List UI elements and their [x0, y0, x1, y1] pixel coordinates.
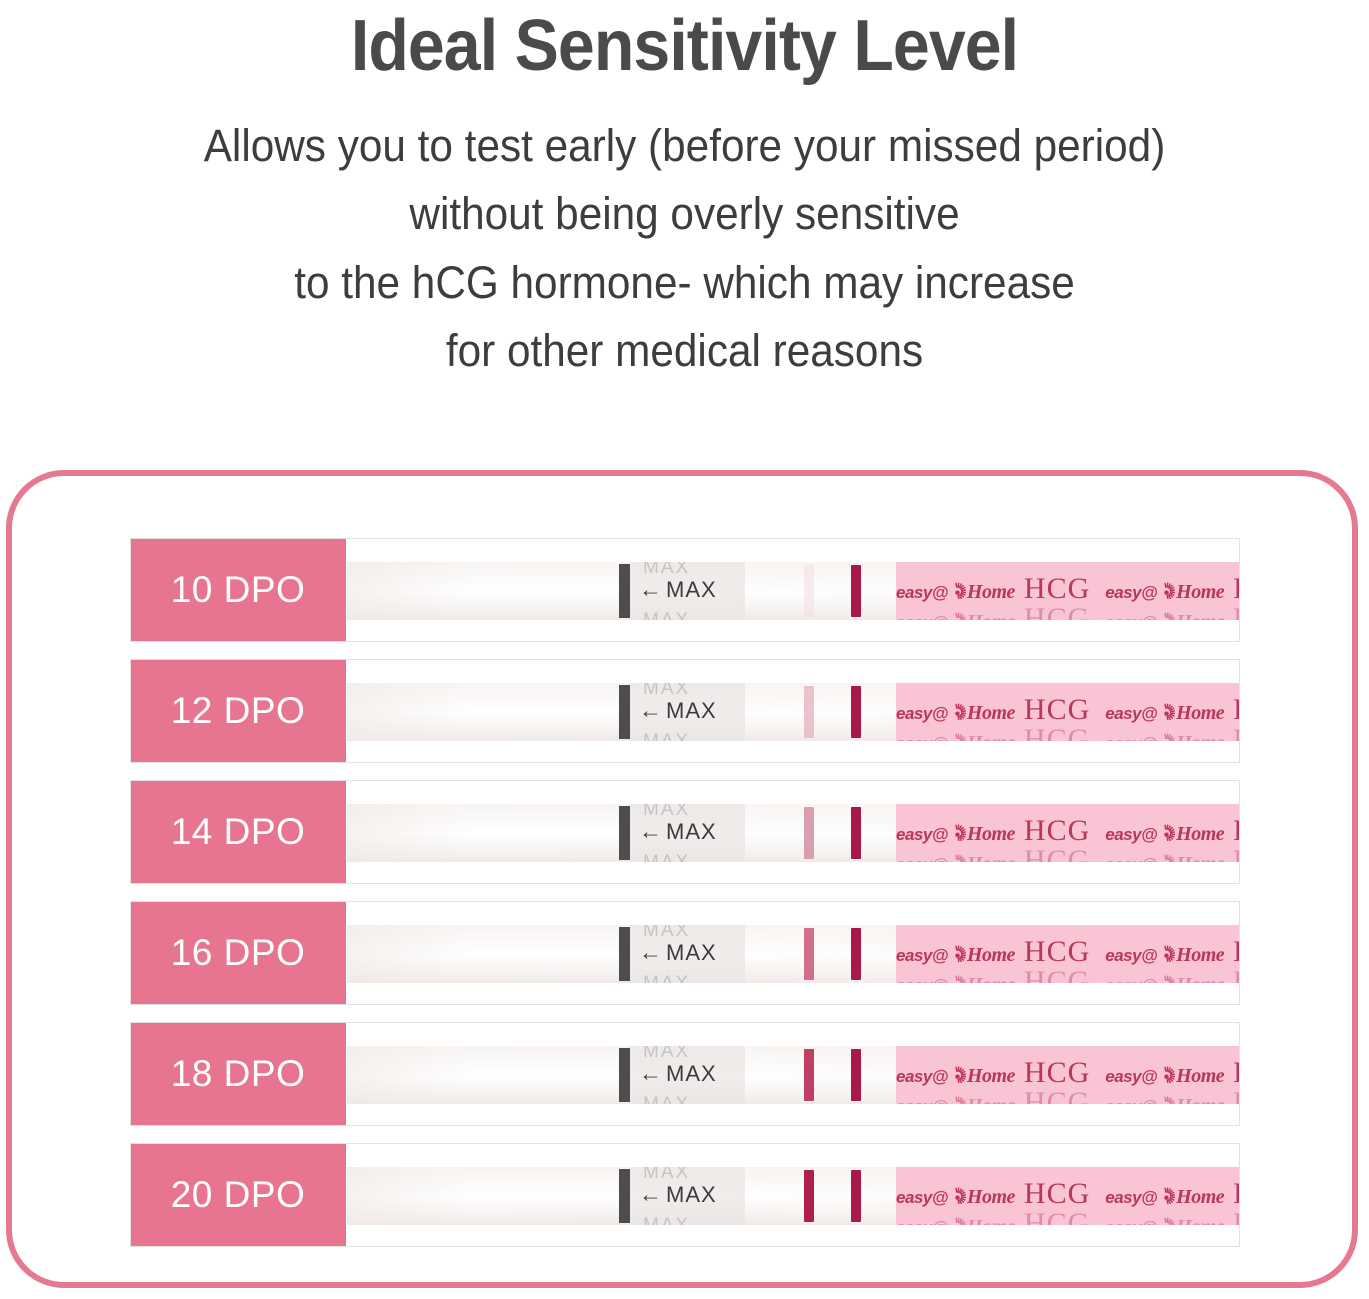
- sunburst-logo-icon: [1158, 703, 1175, 720]
- control-line: [851, 565, 861, 617]
- brand-home-text: Home: [1176, 611, 1224, 620]
- brand-hcg-text: HCG: [1233, 935, 1239, 968]
- brand-easy-text: easy@: [896, 583, 948, 602]
- brand-text-row: easy@HomeHCGeasy@HomeHCGeasy@HomeHCGeasy…: [896, 602, 1239, 620]
- brand-text-row: easy@HomeHCGeasy@HomeHCGeasy@HomeHCGeasy…: [896, 1056, 1239, 1090]
- brand-unit: easy@HomeHCG: [896, 935, 1099, 969]
- test-line: [804, 1170, 814, 1222]
- subtitle: Allows you to test early (before your mi…: [41, 112, 1328, 386]
- brand-unit: easy@HomeHCG: [896, 1056, 1099, 1090]
- dpo-strip-chart: 10 DPOMAX←MAXMAXeasy@HomeHCGeasy@HomeHCG…: [130, 538, 1240, 1250]
- dpo-label-text: 16 DPO: [171, 932, 306, 974]
- dpo-label: 14 DPO: [130, 780, 346, 884]
- brand-easy-text: easy@: [1105, 1218, 1157, 1225]
- brand-easy-text: easy@: [896, 1067, 948, 1086]
- brand-unit: easy@HomeHCG: [1105, 1086, 1239, 1104]
- brand-home-text: Home: [967, 823, 1015, 845]
- sunburst-logo-icon: [949, 1096, 966, 1104]
- brand-easy-text: easy@: [896, 734, 948, 741]
- max-label-ghost-bottom: MAX: [643, 852, 690, 862]
- brand-home-text: Home: [967, 1065, 1015, 1087]
- brand-unit: easy@HomeHCG: [1105, 1207, 1239, 1225]
- sunburst-logo-icon: [1158, 975, 1175, 983]
- brand-hcg-text: HCG: [1024, 693, 1090, 726]
- sunburst-logo-icon: [949, 1066, 966, 1083]
- strip-row: 16 DPOMAX←MAXMAXeasy@HomeHCGeasy@HomeHCG…: [130, 901, 1240, 1005]
- control-line: [851, 1170, 861, 1222]
- sunburst-logo-icon: [949, 582, 966, 599]
- sunburst-logo-icon: [1158, 733, 1175, 741]
- brand-home-text: Home: [1176, 1186, 1224, 1208]
- strip-row: 18 DPOMAX←MAXMAXeasy@HomeHCGeasy@HomeHCG…: [130, 1022, 1240, 1126]
- brand-hcg-text: HCG: [1233, 1177, 1239, 1210]
- brand-easy-text: easy@: [1105, 1097, 1157, 1104]
- brand-home-text: Home: [967, 853, 1015, 862]
- sunburst-logo-icon: [949, 612, 966, 620]
- max-marker-block: [619, 564, 630, 618]
- brand-hcg-text: HCG: [1024, 1056, 1090, 1089]
- brand-easy-text: easy@: [896, 946, 948, 965]
- dpo-label: 18 DPO: [130, 1022, 346, 1126]
- brand-tail: easy@HomeHCGeasy@HomeHCGeasy@HomeHCGeasy…: [896, 804, 1239, 862]
- dpo-label-text: 10 DPO: [171, 569, 306, 611]
- sunburst-logo-icon: [949, 733, 966, 741]
- brand-easy-text: easy@: [1105, 855, 1157, 862]
- control-line: [851, 928, 861, 980]
- sunburst-logo-icon: [949, 1217, 966, 1225]
- brand-hcg-text: HCG: [1024, 1177, 1090, 1210]
- test-line: [804, 807, 814, 859]
- brand-text-row: easy@HomeHCGeasy@HomeHCGeasy@HomeHCGeasy…: [896, 572, 1239, 606]
- brand-easy-text: easy@: [1105, 946, 1157, 965]
- brand-unit: easy@HomeHCG: [1105, 602, 1239, 620]
- sunburst-logo-icon: [1158, 1096, 1175, 1104]
- brand-unit: easy@HomeHCG: [1105, 1177, 1239, 1211]
- brand-unit: easy@HomeHCG: [1105, 1056, 1239, 1090]
- brand-easy-text: easy@: [1105, 825, 1157, 844]
- left-arrow-icon: ←: [639, 697, 663, 723]
- brand-hcg-text: HCG: [1024, 844, 1090, 862]
- brand-easy-text: easy@: [1105, 613, 1157, 620]
- brand-unit: easy@HomeHCG: [896, 1086, 1099, 1104]
- max-marker-text: MAX: [666, 819, 717, 844]
- brand-unit: easy@HomeHCG: [896, 602, 1099, 620]
- brand-easy-text: easy@: [896, 613, 948, 620]
- brand-unit: easy@HomeHCG: [896, 844, 1099, 862]
- dpo-label: 16 DPO: [130, 901, 346, 1005]
- sunburst-logo-icon: [1158, 824, 1175, 841]
- brand-home-text: Home: [1176, 1065, 1224, 1087]
- brand-tail: easy@HomeHCGeasy@HomeHCGeasy@HomeHCGeasy…: [896, 562, 1239, 620]
- dpo-label-text: 20 DPO: [171, 1174, 306, 1216]
- brand-unit: easy@HomeHCG: [896, 723, 1099, 741]
- max-marker-label: ←MAX: [639, 1060, 717, 1087]
- max-marker-block: [619, 927, 630, 981]
- strip-row: 20 DPOMAX←MAXMAXeasy@HomeHCGeasy@HomeHCG…: [130, 1143, 1240, 1247]
- brand-home-text: Home: [967, 1095, 1015, 1104]
- brand-home-text: Home: [1176, 581, 1224, 603]
- brand-easy-text: easy@: [896, 1188, 948, 1207]
- max-marker-block: [619, 1169, 630, 1223]
- brand-unit: easy@HomeHCG: [896, 965, 1099, 983]
- brand-home-text: Home: [1176, 853, 1224, 862]
- brand-unit: easy@HomeHCG: [896, 814, 1099, 848]
- brand-home-text: Home: [967, 1186, 1015, 1208]
- brand-text-row: easy@HomeHCGeasy@HomeHCGeasy@HomeHCGeasy…: [896, 1086, 1239, 1104]
- test-line: [804, 686, 814, 738]
- brand-home-text: Home: [1176, 702, 1224, 724]
- sunburst-logo-icon: [1158, 1187, 1175, 1204]
- max-marker-label: ←MAX: [639, 576, 717, 603]
- dpo-label: 20 DPO: [130, 1143, 346, 1247]
- left-arrow-icon: ←: [639, 1181, 663, 1207]
- brand-unit: easy@HomeHCG: [1105, 965, 1239, 983]
- brand-home-text: Home: [1176, 1216, 1224, 1225]
- sunburst-logo-icon: [949, 945, 966, 962]
- subtitle-line-2: without being overly sensitive: [41, 180, 1328, 248]
- sunburst-logo-icon: [1158, 1066, 1175, 1083]
- max-marker-label: ←MAX: [639, 939, 717, 966]
- brand-unit: easy@HomeHCG: [1105, 693, 1239, 727]
- test-strip: MAX←MAXMAXeasy@HomeHCGeasy@HomeHCGeasy@H…: [347, 804, 1239, 862]
- left-arrow-icon: ←: [639, 1060, 663, 1086]
- brand-tail: easy@HomeHCGeasy@HomeHCGeasy@HomeHCGeasy…: [896, 1046, 1239, 1104]
- test-line: [804, 1049, 814, 1101]
- brand-text-row: easy@HomeHCGeasy@HomeHCGeasy@HomeHCGeasy…: [896, 693, 1239, 727]
- brand-unit: easy@HomeHCG: [896, 1177, 1099, 1211]
- brand-hcg-text: HCG: [1024, 572, 1090, 605]
- control-line: [851, 807, 861, 859]
- brand-easy-text: easy@: [1105, 976, 1157, 983]
- brand-hcg-text: HCG: [1233, 814, 1239, 847]
- max-label-ghost-bottom: MAX: [643, 610, 690, 620]
- brand-tail: easy@HomeHCGeasy@HomeHCGeasy@HomeHCGeasy…: [896, 925, 1239, 983]
- dpo-label: 10 DPO: [130, 538, 346, 642]
- sunburst-logo-icon: [1158, 854, 1175, 862]
- brand-hcg-text: HCG: [1233, 1056, 1239, 1089]
- brand-hcg-text: HCG: [1024, 935, 1090, 968]
- brand-text-row: easy@HomeHCGeasy@HomeHCGeasy@HomeHCGeasy…: [896, 844, 1239, 862]
- brand-hcg-text: HCG: [1233, 1207, 1239, 1225]
- brand-home-text: Home: [967, 1216, 1015, 1225]
- max-label-ghost-bottom: MAX: [643, 1215, 690, 1225]
- brand-easy-text: easy@: [1105, 1067, 1157, 1086]
- dpo-label: 12 DPO: [130, 659, 346, 763]
- brand-unit: easy@HomeHCG: [896, 1207, 1099, 1225]
- sunburst-logo-icon: [1158, 1217, 1175, 1225]
- brand-text-row: easy@HomeHCGeasy@HomeHCGeasy@HomeHCGeasy…: [896, 814, 1239, 848]
- brand-home-text: Home: [967, 974, 1015, 983]
- max-marker-text: MAX: [666, 698, 717, 723]
- control-line: [851, 686, 861, 738]
- brand-hcg-text: HCG: [1233, 844, 1239, 862]
- brand-hcg-text: HCG: [1233, 602, 1239, 620]
- brand-easy-text: easy@: [1105, 583, 1157, 602]
- brand-unit: easy@HomeHCG: [1105, 723, 1239, 741]
- sunburst-logo-icon: [1158, 582, 1175, 599]
- max-marker-block: [619, 1048, 630, 1102]
- strip-row: 14 DPOMAX←MAXMAXeasy@HomeHCGeasy@HomeHCG…: [130, 780, 1240, 884]
- brand-easy-text: easy@: [896, 1218, 948, 1225]
- left-arrow-icon: ←: [639, 939, 663, 965]
- max-label-ghost-bottom: MAX: [643, 1094, 690, 1104]
- strip-row: 10 DPOMAX←MAXMAXeasy@HomeHCGeasy@HomeHCG…: [130, 538, 1240, 642]
- brand-home-text: Home: [967, 944, 1015, 966]
- test-line: [804, 565, 814, 617]
- subtitle-line-4: for other medical reasons: [41, 317, 1328, 385]
- brand-unit: easy@HomeHCG: [896, 693, 1099, 727]
- max-label-ghost-bottom: MAX: [643, 731, 690, 741]
- max-marker-text: MAX: [666, 577, 717, 602]
- max-marker-label: ←MAX: [639, 1181, 717, 1208]
- brand-home-text: Home: [1176, 823, 1224, 845]
- brand-tail: easy@HomeHCGeasy@HomeHCGeasy@HomeHCGeasy…: [896, 1167, 1239, 1225]
- brand-home-text: Home: [1176, 974, 1224, 983]
- brand-hcg-text: HCG: [1233, 723, 1239, 741]
- sunburst-logo-icon: [1158, 945, 1175, 962]
- sunburst-logo-icon: [949, 1187, 966, 1204]
- header-section: Ideal Sensitivity Level Allows you to te…: [0, 0, 1369, 385]
- test-strip: MAX←MAXMAXeasy@HomeHCGeasy@HomeHCGeasy@H…: [347, 1167, 1239, 1225]
- brand-easy-text: easy@: [1105, 704, 1157, 723]
- brand-text-row: easy@HomeHCGeasy@HomeHCGeasy@HomeHCGeasy…: [896, 935, 1239, 969]
- brand-hcg-text: HCG: [1024, 602, 1090, 620]
- brand-unit: easy@HomeHCG: [1105, 935, 1239, 969]
- test-strip: MAX←MAXMAXeasy@HomeHCGeasy@HomeHCGeasy@H…: [347, 925, 1239, 983]
- brand-easy-text: easy@: [896, 976, 948, 983]
- control-line: [851, 1049, 861, 1101]
- test-line: [804, 928, 814, 980]
- max-marker-text: MAX: [666, 1061, 717, 1086]
- brand-hcg-text: HCG: [1024, 1207, 1090, 1225]
- brand-easy-text: easy@: [896, 704, 948, 723]
- brand-unit: easy@HomeHCG: [1105, 572, 1239, 606]
- brand-hcg-text: HCG: [1024, 965, 1090, 983]
- brand-home-text: Home: [1176, 944, 1224, 966]
- brand-easy-text: easy@: [896, 855, 948, 862]
- max-label-ghost-bottom: MAX: [643, 973, 690, 983]
- brand-unit: easy@HomeHCG: [1105, 844, 1239, 862]
- dpo-label-text: 14 DPO: [171, 811, 306, 853]
- brand-text-row: easy@HomeHCGeasy@HomeHCGeasy@HomeHCGeasy…: [896, 1177, 1239, 1211]
- test-strip: MAX←MAXMAXeasy@HomeHCGeasy@HomeHCGeasy@H…: [347, 1046, 1239, 1104]
- brand-hcg-text: HCG: [1024, 814, 1090, 847]
- sunburst-logo-icon: [1158, 612, 1175, 620]
- max-marker-block: [619, 806, 630, 860]
- left-arrow-icon: ←: [639, 576, 663, 602]
- brand-unit: easy@HomeHCG: [896, 572, 1099, 606]
- brand-hcg-text: HCG: [1233, 965, 1239, 983]
- page-title: Ideal Sensitivity Level: [55, 8, 1314, 86]
- max-marker-text: MAX: [666, 940, 717, 965]
- max-marker-label: ←MAX: [639, 697, 717, 724]
- brand-home-text: Home: [1176, 1095, 1224, 1104]
- brand-home-text: Home: [1176, 732, 1224, 741]
- max-marker-block: [619, 685, 630, 739]
- brand-easy-text: easy@: [1105, 1188, 1157, 1207]
- brand-unit: easy@HomeHCG: [1105, 814, 1239, 848]
- brand-hcg-text: HCG: [1024, 1086, 1090, 1104]
- max-marker-label: ←MAX: [639, 818, 717, 845]
- brand-hcg-text: HCG: [1024, 723, 1090, 741]
- sunburst-logo-icon: [949, 824, 966, 841]
- dpo-label-text: 12 DPO: [171, 690, 306, 732]
- brand-easy-text: easy@: [896, 1097, 948, 1104]
- brand-home-text: Home: [967, 581, 1015, 603]
- brand-home-text: Home: [967, 732, 1015, 741]
- left-arrow-icon: ←: [639, 818, 663, 844]
- strip-row: 12 DPOMAX←MAXMAXeasy@HomeHCGeasy@HomeHCG…: [130, 659, 1240, 763]
- brand-easy-text: easy@: [1105, 734, 1157, 741]
- brand-hcg-text: HCG: [1233, 572, 1239, 605]
- brand-hcg-text: HCG: [1233, 693, 1239, 726]
- sunburst-logo-icon: [949, 703, 966, 720]
- sunburst-logo-icon: [949, 854, 966, 862]
- subtitle-line-1: Allows you to test early (before your mi…: [41, 112, 1328, 180]
- brand-hcg-text: HCG: [1233, 1086, 1239, 1104]
- brand-text-row: easy@HomeHCGeasy@HomeHCGeasy@HomeHCGeasy…: [896, 965, 1239, 983]
- test-strip: MAX←MAXMAXeasy@HomeHCGeasy@HomeHCGeasy@H…: [347, 562, 1239, 620]
- brand-text-row: easy@HomeHCGeasy@HomeHCGeasy@HomeHCGeasy…: [896, 1207, 1239, 1225]
- brand-home-text: Home: [967, 702, 1015, 724]
- sunburst-logo-icon: [949, 975, 966, 983]
- max-marker-text: MAX: [666, 1182, 717, 1207]
- brand-easy-text: easy@: [896, 825, 948, 844]
- brand-text-row: easy@HomeHCGeasy@HomeHCGeasy@HomeHCGeasy…: [896, 723, 1239, 741]
- brand-home-text: Home: [967, 611, 1015, 620]
- test-strip: MAX←MAXMAXeasy@HomeHCGeasy@HomeHCGeasy@H…: [347, 683, 1239, 741]
- subtitle-line-3: to the hCG hormone- which may increase: [41, 249, 1328, 317]
- dpo-label-text: 18 DPO: [171, 1053, 306, 1095]
- brand-tail: easy@HomeHCGeasy@HomeHCGeasy@HomeHCGeasy…: [896, 683, 1239, 741]
